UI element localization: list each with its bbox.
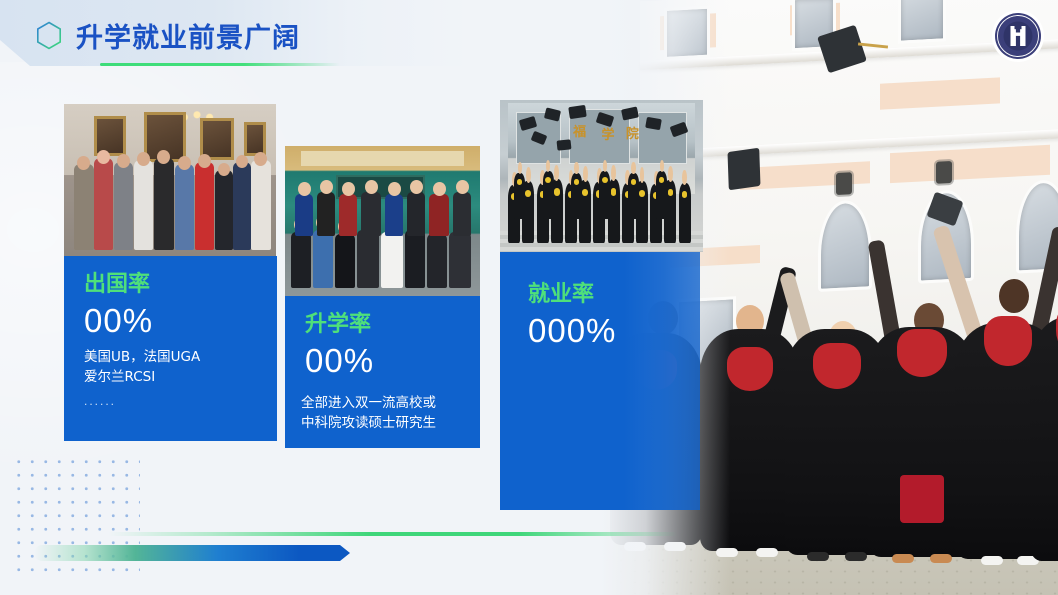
graduate-figure xyxy=(1030,241,1058,561)
stat-ellipsis-abroad: ...... xyxy=(84,394,116,408)
hexagon-outline-icon xyxy=(36,21,62,50)
stat-desc-line: 美国UB，法国UGA xyxy=(84,348,200,368)
stat-value-employment: 000% xyxy=(528,314,616,347)
stat-card-postgrad: 升学率 00% 全部进入双一流高校或 中科院攻读硕士研究生 xyxy=(285,296,480,448)
page-title-row: 升学就业前景广阔 xyxy=(36,16,300,55)
stat-value-postgrad: 00% xyxy=(305,344,374,377)
stat-desc-line: 全部进入双一流高校或 xyxy=(301,394,436,414)
stat-card-employment: 就业率 000% xyxy=(500,252,700,510)
photo-graduation-caps: 福 学 院 xyxy=(500,100,703,252)
stat-desc-abroad: 美国UB，法国UGA 爱尔兰RCSI xyxy=(84,348,200,387)
university-seal-logo xyxy=(992,10,1044,62)
stat-card-abroad: 出国率 00% 美国UB，法国UGA 爱尔兰RCSI ...... xyxy=(64,256,277,441)
gradient-accent-bar xyxy=(34,545,350,561)
stat-label-abroad: 出国率 xyxy=(84,274,150,296)
stat-label-employment: 就业率 xyxy=(528,284,594,306)
stat-desc-postgrad: 全部进入双一流高校或 中科院攻读硕士研究生 xyxy=(301,394,436,433)
green-accent-line xyxy=(108,532,678,536)
page-title: 升学就业前景广阔 xyxy=(76,16,300,55)
photo-overseas-group xyxy=(64,104,276,256)
title-underline xyxy=(100,63,340,66)
photo-class-group xyxy=(285,146,480,296)
stat-desc-line: 中科院攻读硕士研究生 xyxy=(301,414,436,434)
stat-desc-line: 爱尔兰RCSI xyxy=(84,368,200,388)
stat-value-abroad: 00% xyxy=(84,304,153,337)
flying-cap-icon xyxy=(727,148,760,191)
slide-canvas: 升学就业前景广阔 xyxy=(0,0,1058,595)
stat-label-postgrad: 升学率 xyxy=(305,314,371,336)
